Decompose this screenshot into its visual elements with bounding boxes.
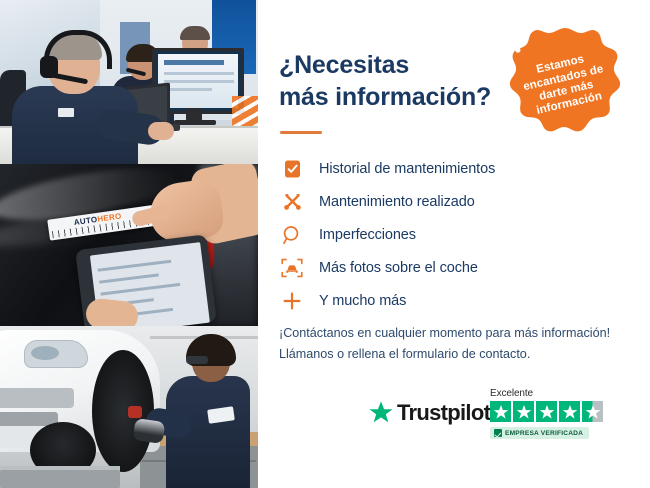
monitor-base bbox=[174, 120, 216, 125]
monitor-row bbox=[164, 88, 212, 91]
monitor-row bbox=[164, 80, 234, 83]
rating-label: Excelente bbox=[490, 388, 612, 399]
badge-text: Estamos encantados de darte más informac… bbox=[508, 47, 621, 122]
agent-hand bbox=[148, 122, 174, 140]
trustpilot-star-icon bbox=[368, 400, 394, 426]
trustpilot-widget[interactable]: Trustpilot Excelente EMPRESA VERIFICADA bbox=[368, 388, 628, 454]
heading-line-2: más información? bbox=[279, 82, 529, 114]
magnifier-icon bbox=[279, 223, 305, 247]
feature-label: Imperfecciones bbox=[319, 227, 416, 243]
feature-list: Historial de mantenimientos M bbox=[279, 152, 599, 317]
headlight bbox=[24, 340, 88, 368]
lift-platform bbox=[0, 470, 120, 488]
page-title: ¿Necesitas más información? bbox=[279, 50, 529, 113]
car-grille bbox=[0, 388, 74, 408]
heading-line-1: ¿Necesitas bbox=[279, 50, 529, 82]
verified-company-badge: EMPRESA VERIFICADA bbox=[490, 427, 589, 439]
tablet-row bbox=[99, 273, 159, 283]
rating-stars bbox=[490, 401, 612, 422]
headlight-inner bbox=[31, 346, 59, 360]
safety-glasses bbox=[186, 356, 208, 364]
feature-label: Más fotos sobre el coche bbox=[319, 260, 478, 276]
call-center-photo bbox=[0, 0, 258, 164]
colleague-far-hair bbox=[180, 26, 210, 40]
hand-tool bbox=[128, 406, 142, 418]
trustpilot-wordmark: Trustpilot bbox=[397, 400, 490, 426]
rating-star-5-half bbox=[582, 401, 603, 422]
paragraph-line-1: ¡Contáctanos en cualquier momento para m… bbox=[279, 323, 639, 344]
feature-item-historial: Historial de mantenimientos bbox=[279, 152, 599, 185]
inspection-ruler-photo: AUTOHERO bbox=[0, 164, 258, 326]
trustpilot-rating: Excelente EMPRESA VERIFICADA bbox=[490, 388, 612, 442]
front-tire bbox=[92, 350, 154, 472]
tools-icon bbox=[279, 190, 305, 214]
feature-label: Mantenimiento realizado bbox=[319, 194, 475, 210]
verified-check-icon bbox=[494, 429, 502, 437]
headset-icon bbox=[493, 33, 523, 58]
tablet-row bbox=[100, 283, 180, 296]
trustpilot-logo[interactable]: Trustpilot bbox=[368, 400, 490, 426]
plus-icon bbox=[279, 289, 305, 313]
feature-label: Y mucho más bbox=[319, 293, 406, 309]
checklist-icon bbox=[279, 157, 305, 181]
paragraph-line-2: Llámanos o rellena el formulario de cont… bbox=[279, 344, 639, 365]
mechanic-wheel-photo bbox=[0, 326, 258, 488]
monitor-row bbox=[164, 72, 234, 75]
contact-paragraph: ¡Contáctanos en cualquier momento para m… bbox=[279, 323, 639, 365]
tablet-row bbox=[98, 260, 172, 272]
information-banner: AUTOHERO bbox=[0, 0, 650, 488]
promo-badge: Estamos encantados de darte más informac… bbox=[505, 24, 625, 146]
rating-star-4 bbox=[559, 401, 580, 422]
feature-item-fotos: Más fotos sobre el coche bbox=[279, 251, 599, 284]
feature-item-mas: Y mucho más bbox=[279, 284, 599, 317]
feature-item-mantenimiento: Mantenimiento realizado bbox=[279, 185, 599, 218]
rating-star-1 bbox=[490, 401, 511, 422]
photo-collage: AUTOHERO bbox=[0, 0, 258, 488]
feature-label: Historial de mantenimientos bbox=[319, 161, 495, 177]
content-panel: ¿Necesitas más información? Estamos enca… bbox=[258, 0, 650, 488]
rating-star-2 bbox=[513, 401, 534, 422]
rating-star-3 bbox=[536, 401, 557, 422]
work-glove bbox=[133, 418, 166, 444]
car-scan-icon bbox=[279, 256, 305, 280]
monitor-screen bbox=[158, 54, 238, 108]
verified-label: EMPRESA VERIFICADA bbox=[505, 430, 583, 437]
monitor-toolbar bbox=[164, 60, 224, 65]
agent-name-badge bbox=[58, 108, 74, 117]
title-divider bbox=[280, 131, 322, 134]
feature-item-imperfecciones: Imperfecciones bbox=[279, 218, 599, 251]
